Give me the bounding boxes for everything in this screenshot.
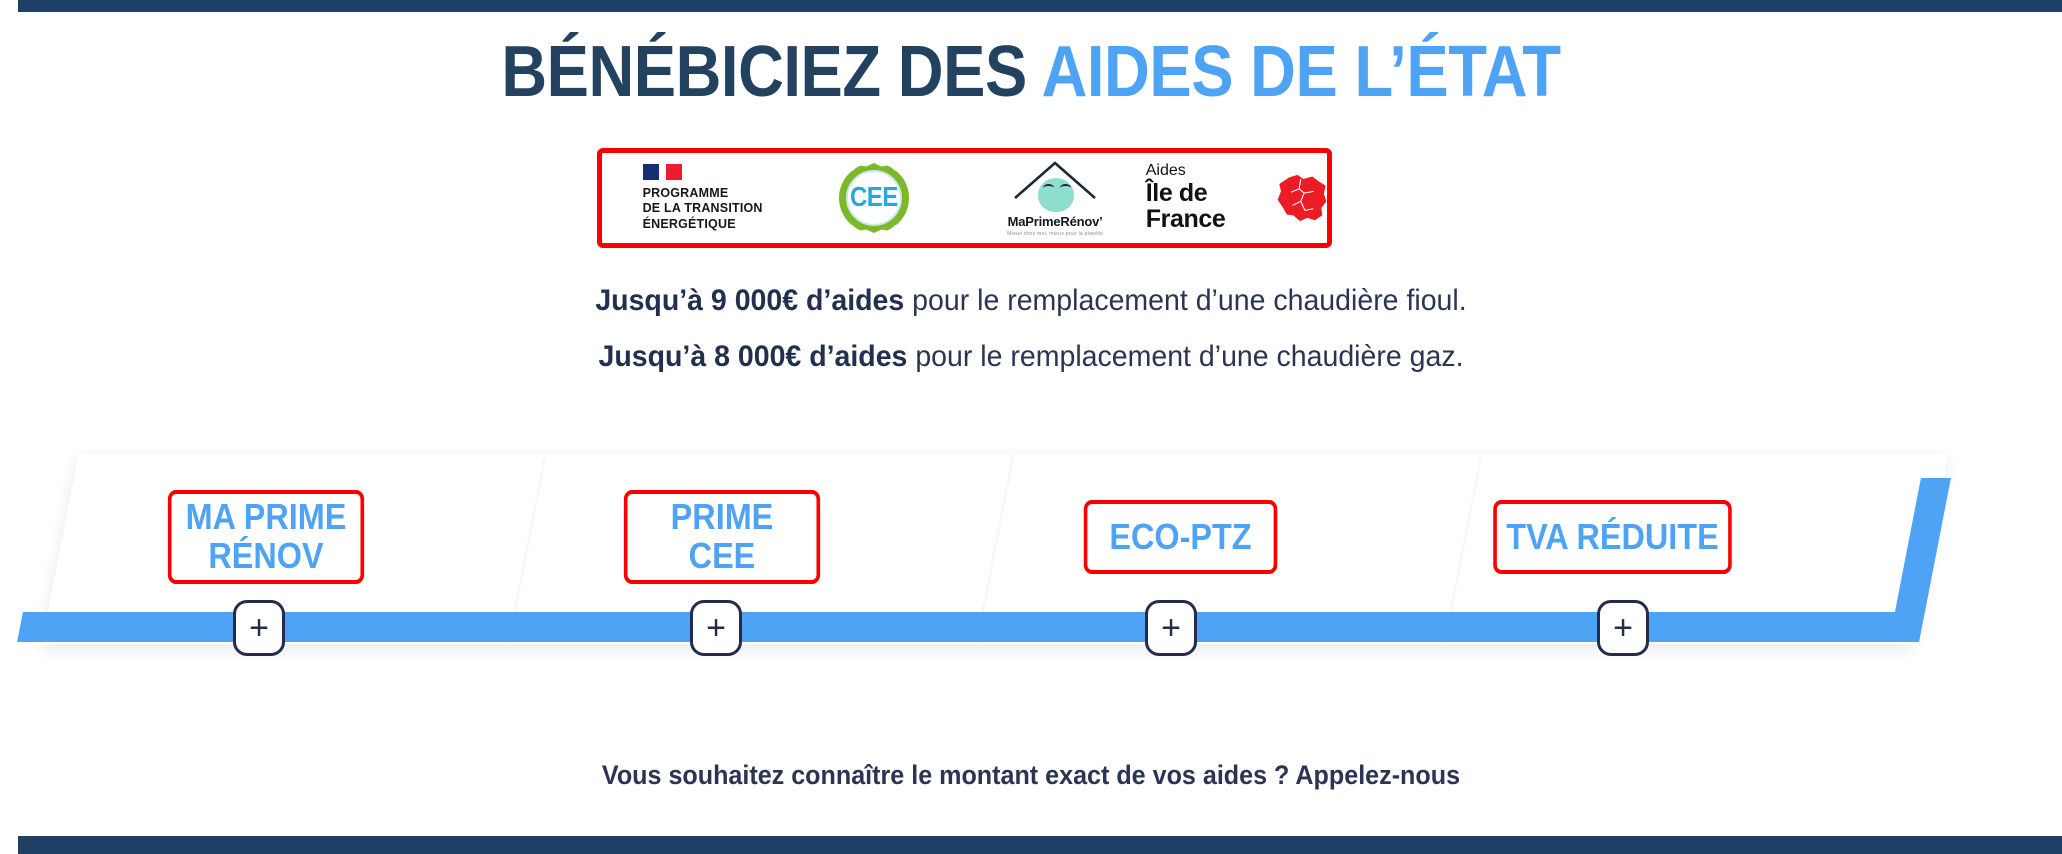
subtitle-1-strong: Jusqu’à 9 000€ d’aides	[595, 284, 904, 317]
aid-card-prime-cee[interactable]: PRIMECEE	[624, 490, 820, 584]
expand-button-prime-cee[interactable]: +	[690, 600, 742, 656]
logo-programme-transition-energetique: PROGRAMME DE LA TRANSITION ÉNERGÉTIQUE	[602, 153, 783, 243]
french-flag-icon	[643, 164, 763, 180]
page-root: BÉNÉBICIEZ DES AIDES DE L’ÉTAT PROGRAMME…	[0, 0, 2062, 854]
logo-cee: CEE	[783, 153, 964, 243]
aid-card-2-line-1: PRIME	[671, 496, 774, 537]
aid-card-tva-reduite[interactable]: TVA RÉDUITE	[1493, 500, 1732, 574]
cee-label: CEE	[850, 182, 898, 214]
bottom-navy-bar	[18, 836, 2062, 854]
programme-line-2: DE LA TRANSITION	[643, 201, 763, 216]
expand-button-eco-ptz[interactable]: +	[1145, 600, 1197, 656]
plus-icon: +	[1613, 611, 1633, 645]
aid-card-1-line-1: MA PRIME	[186, 496, 347, 537]
ile-de-france-map-icon	[1276, 169, 1327, 227]
contact-question: Vous souhaitez connaître le montant exac…	[72, 760, 1990, 791]
aid-card-eco-ptz[interactable]: ECO-PTZ	[1084, 500, 1278, 574]
maprimerenov-house-icon	[1012, 160, 1098, 212]
aid-card-3-line-1: ECO-PTZ	[1109, 518, 1251, 557]
logo-aides-ile-de-france: Aides Île de France	[1146, 153, 1327, 243]
aid-card-1-line-2: RÉNOV	[208, 535, 323, 576]
partner-logo-strip: PROGRAMME DE LA TRANSITION ÉNERGÉTIQUE C…	[597, 148, 1332, 248]
subtitle-line-1: Jusqu’à 9 000€ d’aides pour le remplacem…	[52, 284, 2011, 318]
aid-card-2-line-2: CEE	[689, 535, 756, 576]
subtitle-line-2: Jusqu’à 8 000€ d’aides pour le remplacem…	[52, 340, 2011, 374]
aid-card-ma-prime-renov[interactable]: MA PRIMERÉNOV	[168, 490, 364, 584]
idf-line-2: Île de France	[1146, 180, 1268, 233]
plus-icon: +	[1161, 611, 1181, 645]
subtitle-2-strong: Jusqu’à 8 000€ d’aides	[598, 340, 907, 373]
page-title: BÉNÉBICIEZ DES AIDES DE L’ÉTAT	[124, 36, 1939, 108]
idf-line-1: Aides	[1146, 163, 1268, 180]
maprimerenov-label: MaPrimeRénov’	[1008, 214, 1103, 229]
subtitle-1-rest: pour le remplacement d’une chaudière fio…	[904, 284, 1466, 317]
aid-card-4-line-1: TVA RÉDUITE	[1506, 518, 1718, 557]
maprimerenov-tagline: Mieux chez moi, mieux pour la planète	[1007, 231, 1103, 237]
programme-line-3: ÉNERGÉTIQUE	[643, 217, 763, 232]
expand-button-tva-reduite[interactable]: +	[1597, 600, 1649, 656]
plus-icon: +	[706, 611, 726, 645]
subtitle-2-rest: pour le remplacement d’une chaudière gaz…	[907, 340, 1463, 373]
expand-button-ma-prime-renov[interactable]: +	[233, 600, 285, 656]
page-title-dark: BÉNÉBICIEZ DES	[501, 32, 1041, 112]
programme-line-1: PROGRAMME	[643, 186, 763, 201]
page-title-blue: AIDES DE L’ÉTAT	[1042, 32, 1561, 112]
top-navy-bar	[18, 0, 2062, 12]
plus-icon: +	[249, 611, 269, 645]
logo-maprimerenov: MaPrimeRénov’ Mieux chez moi, mieux pour…	[965, 153, 1146, 243]
